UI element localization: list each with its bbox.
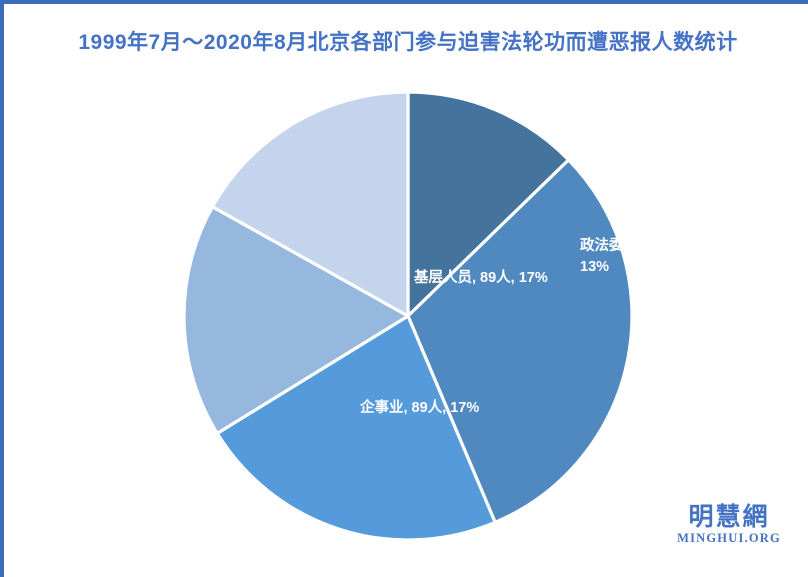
- pie-slice-group: [184, 92, 632, 540]
- pie-slice-label-dangzhengguanyuan: 党政官员, 119人, 22%: [432, 540, 622, 561]
- page-title: 1999年7月～2020年8月北京各部门参与迫害法轮功而遭恶报人数统计: [4, 26, 808, 56]
- pie-slice-label-gongjianfasi: 公检法司, 163人, 31%: [642, 414, 808, 435]
- pie-chart-svg: [182, 90, 634, 542]
- logo-chinese-text: 明慧網: [668, 504, 790, 530]
- pie-chart: 政法委、610, 67人, 13% 公检法司, 163人, 31% 党政官员, …: [182, 90, 634, 542]
- logo-english-text: MINGHUI.ORG: [668, 531, 790, 546]
- chart-page: 1999年7月～2020年8月北京各部门参与迫害法轮功而遭恶报人数统计 政法委、…: [0, 0, 808, 577]
- minghui-logo: 明慧網 MINGHUI.ORG: [668, 504, 790, 546]
